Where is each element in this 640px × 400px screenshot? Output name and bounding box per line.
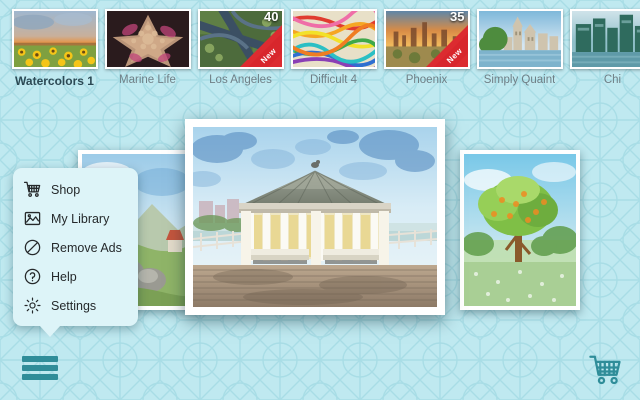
category-label: Simply Quaint (484, 74, 556, 86)
category-label: Marine Life (119, 74, 176, 86)
category-label: Chi (604, 74, 621, 86)
gear-icon (23, 296, 42, 315)
menu-item-label: Settings (51, 299, 96, 313)
new-badge: New (239, 26, 284, 69)
category-label: Watercolors 1 (15, 74, 94, 88)
puzzle-count-badge: 35 (450, 10, 464, 24)
category-label: Los Angeles (209, 74, 272, 86)
orchard-tree-watercolor-puzzle (464, 154, 576, 306)
colored-ribbons-thumb (293, 11, 375, 67)
category-tab-watercolors-1[interactable]: Watercolors 1 (8, 0, 101, 88)
question-circle-icon (23, 267, 42, 286)
category-thumbnail[interactable] (105, 9, 191, 69)
category-tab-marine-life[interactable]: Marine Life (101, 0, 194, 86)
menu-item-label: Help (51, 270, 77, 284)
menu-item-label: Shop (51, 183, 80, 197)
city-skyline-thumb (572, 11, 640, 67)
main-popup-menu[interactable]: Shop My Library Remove Ads (13, 168, 138, 326)
no-ads-icon (23, 238, 42, 257)
sunflower-field-thumb (14, 11, 96, 67)
category-thumbnail[interactable]: New 40 (198, 9, 284, 69)
menu-item-shop[interactable]: Shop (13, 175, 138, 204)
category-thumbnail[interactable] (291, 9, 377, 69)
hamburger-menu-icon[interactable] (22, 353, 58, 383)
menu-item-label: Remove Ads (51, 241, 122, 255)
puzzle-card-right[interactable] (460, 150, 580, 310)
category-thumbnail[interactable] (12, 9, 98, 69)
photo-library-icon (23, 209, 42, 228)
category-tab-strip[interactable]: Watercolors 1 (0, 0, 640, 100)
category-thumbnail[interactable] (570, 9, 640, 69)
menu-item-my-library[interactable]: My Library (13, 204, 138, 233)
hamburger-bar (22, 365, 58, 371)
category-label: Phoenix (406, 74, 448, 86)
category-thumbnail[interactable] (477, 9, 563, 69)
canal-town-thumb (479, 11, 561, 67)
category-tab-chicago[interactable]: Chi (566, 0, 640, 86)
hamburger-bar (22, 374, 58, 380)
category-tab-simply-quaint[interactable]: Simply Quaint (473, 0, 566, 86)
category-tab-los-angeles[interactable]: New 40 Los Angeles (194, 0, 287, 86)
hamburger-bar (22, 356, 58, 362)
menu-item-settings[interactable]: Settings (13, 291, 138, 320)
category-tab-difficult-4[interactable]: Difficult 4 (287, 0, 380, 86)
menu-item-help[interactable]: Help (13, 262, 138, 291)
menu-item-remove-ads[interactable]: Remove Ads (13, 233, 138, 262)
puzzle-count-badge: 40 (264, 10, 278, 24)
shopping-cart-icon (23, 180, 42, 199)
new-badge: New (425, 26, 470, 69)
category-tab-phoenix[interactable]: New 35 Phoenix (380, 0, 473, 86)
category-label: Difficult 4 (310, 74, 357, 86)
shopping-cart-icon[interactable] (586, 352, 626, 388)
starfish-thumb (107, 11, 189, 67)
seaside-pavilion-watercolor-puzzle (193, 127, 437, 307)
puzzle-card-main-seaside-pavilion[interactable] (185, 119, 445, 315)
menu-item-label: My Library (51, 212, 109, 226)
category-thumbnail[interactable]: New 35 (384, 9, 470, 69)
